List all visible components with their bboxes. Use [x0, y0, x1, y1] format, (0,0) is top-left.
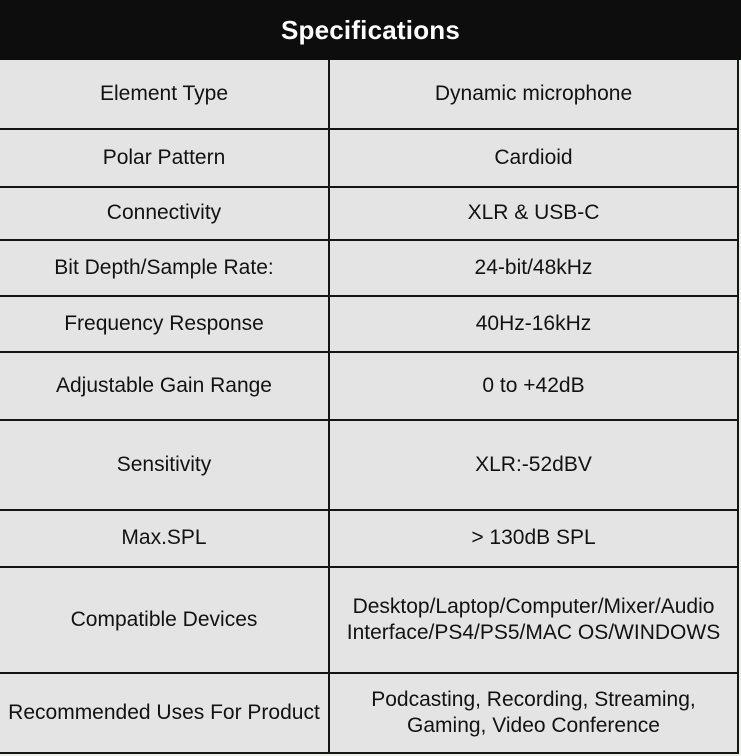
spec-value-text: 40Hz-16kHz: [336, 311, 731, 337]
table-row: Polar Pattern Cardioid: [0, 129, 738, 187]
spec-label-cell: Polar Pattern: [0, 129, 329, 187]
table-row: Recommended Uses For Product Podcasting,…: [0, 673, 738, 753]
spec-label-text: Recommended Uses For Product: [6, 700, 322, 726]
spec-value-text: 24-bit/48kHz: [336, 255, 731, 281]
spec-label-cell: Recommended Uses For Product: [0, 673, 329, 753]
spec-label-text: Frequency Response: [6, 311, 322, 337]
spec-label-cell: Max.SPL: [0, 510, 329, 567]
spec-value-text: XLR:-52dBV: [336, 452, 731, 478]
table-row: Adjustable Gain Range 0 to +42dB: [0, 352, 738, 420]
spec-value-cell: XLR & USB-C: [329, 187, 738, 240]
spec-label-text: Adjustable Gain Range: [6, 373, 322, 399]
spec-label-cell: Connectivity: [0, 187, 329, 240]
spec-value-text: XLR & USB-C: [336, 200, 731, 226]
spec-label-cell: Adjustable Gain Range: [0, 352, 329, 420]
spec-label-cell: Compatible Devices: [0, 567, 329, 673]
table-row: Frequency Response 40Hz-16kHz: [0, 296, 738, 352]
spec-value-text: Desktop/Laptop/Computer/Mixer/Audio Inte…: [336, 594, 731, 646]
table-row: Connectivity XLR & USB-C: [0, 187, 738, 240]
spec-value-text: Cardioid: [336, 145, 731, 171]
spec-label-text: Polar Pattern: [6, 145, 322, 171]
spec-label-text: Bit Depth/Sample Rate:: [6, 255, 322, 281]
specifications-header: Specifications: [0, 0, 741, 60]
spec-value-cell: > 130dB SPL: [329, 510, 738, 567]
table-row: Max.SPL > 130dB SPL: [0, 510, 738, 567]
spec-value-text: 0 to +42dB: [336, 373, 731, 399]
spec-value-cell: Desktop/Laptop/Computer/Mixer/Audio Inte…: [329, 567, 738, 673]
spec-value-cell: Cardioid: [329, 129, 738, 187]
specifications-table: Element Type Dynamic microphone Polar Pa…: [0, 60, 739, 754]
spec-value-cell: 24-bit/48kHz: [329, 240, 738, 296]
spec-label-cell: Frequency Response: [0, 296, 329, 352]
table-row: Bit Depth/Sample Rate: 24-bit/48kHz: [0, 240, 738, 296]
spec-value-cell: XLR:-52dBV: [329, 420, 738, 510]
spec-value-text: > 130dB SPL: [336, 525, 731, 551]
table-row: Compatible Devices Desktop/Laptop/Comput…: [0, 567, 738, 673]
page-title: Specifications: [281, 17, 460, 43]
spec-value-cell: Dynamic microphone: [329, 60, 738, 129]
spec-value-cell: 40Hz-16kHz: [329, 296, 738, 352]
spec-value-text: Podcasting, Recording, Streaming, Gaming…: [336, 687, 731, 739]
spec-value-cell: 0 to +42dB: [329, 352, 738, 420]
specifications-sheet: Specifications Element Type Dynamic micr…: [0, 0, 741, 756]
spec-label-cell: Sensitivity: [0, 420, 329, 510]
spec-label-text: Element Type: [6, 81, 322, 107]
specifications-table-body: Element Type Dynamic microphone Polar Pa…: [0, 60, 738, 753]
spec-value-text: Dynamic microphone: [336, 81, 731, 107]
spec-label-cell: Element Type: [0, 60, 329, 129]
table-row: Sensitivity XLR:-52dBV: [0, 420, 738, 510]
spec-label-text: Connectivity: [6, 200, 322, 226]
table-row: Element Type Dynamic microphone: [0, 60, 738, 129]
spec-label-cell: Bit Depth/Sample Rate:: [0, 240, 329, 296]
spec-label-text: Sensitivity: [6, 452, 322, 478]
spec-label-text: Compatible Devices: [6, 607, 322, 633]
spec-value-cell: Podcasting, Recording, Streaming, Gaming…: [329, 673, 738, 753]
spec-label-text: Max.SPL: [6, 525, 322, 551]
